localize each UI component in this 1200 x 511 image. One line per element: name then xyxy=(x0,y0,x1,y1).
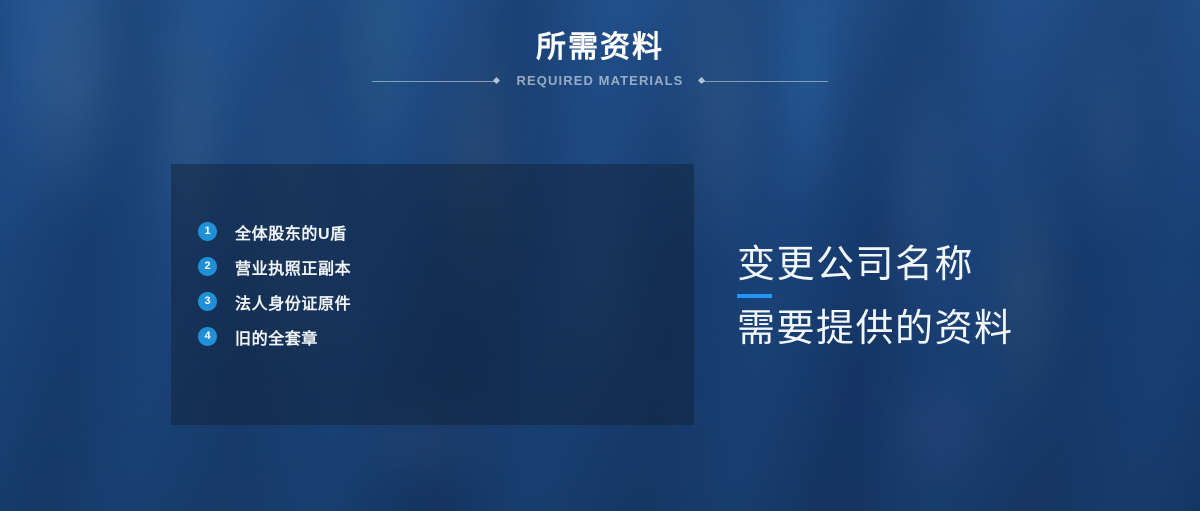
page-title: 所需资料 xyxy=(0,33,1200,63)
headline-divider xyxy=(737,294,772,298)
banner-stage: 所需资料 REQUIRED MATERIALS 1 全体股东的U盾 2 营业执照… xyxy=(0,0,1200,511)
headline-line-1: 变更公司名称 xyxy=(737,243,1167,287)
page-subtitle: REQUIRED MATERIALS xyxy=(0,74,1200,87)
list-number-badge: 4 xyxy=(198,327,217,346)
list-item: 1 全体股东的U盾 xyxy=(198,214,694,249)
materials-list: 1 全体股东的U盾 2 营业执照正副本 3 法人身份证原件 4 旧的全套章 xyxy=(198,214,694,354)
list-item: 4 旧的全套章 xyxy=(198,319,694,354)
header-rule-left-icon xyxy=(372,81,498,82)
list-item-label: 营业执照正副本 xyxy=(235,255,351,279)
list-number-badge: 1 xyxy=(198,222,217,241)
list-item-label: 旧的全套章 xyxy=(235,325,318,349)
materials-panel: 1 全体股东的U盾 2 营业执照正副本 3 法人身份证原件 4 旧的全套章 xyxy=(171,164,694,425)
list-number-badge: 2 xyxy=(198,257,217,276)
headline-block: 变更公司名称 需要提供的资料 xyxy=(737,243,1167,351)
list-item: 2 营业执照正副本 xyxy=(198,249,694,284)
list-item-label: 全体股东的U盾 xyxy=(235,220,347,244)
header-rule-right-icon xyxy=(702,81,828,82)
list-number-badge: 3 xyxy=(198,292,217,311)
header: 所需资料 REQUIRED MATERIALS xyxy=(0,0,1200,110)
headline-line-2: 需要提供的资料 xyxy=(737,307,1167,351)
list-item-label: 法人身份证原件 xyxy=(235,290,351,314)
list-item: 3 法人身份证原件 xyxy=(198,284,694,319)
